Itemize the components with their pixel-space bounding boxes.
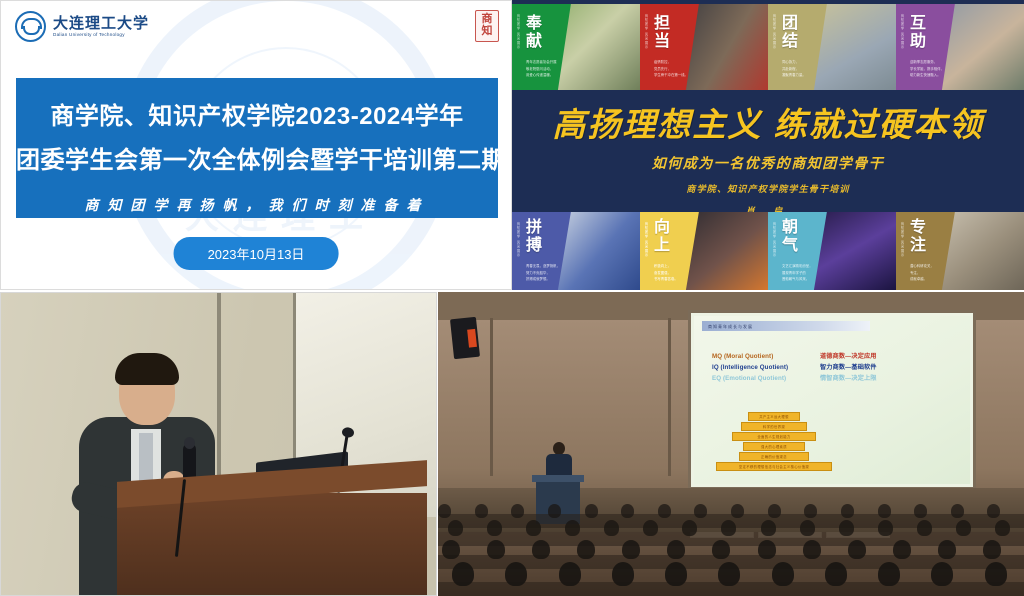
banner-bottom-tile-4: 商知团学 风采展示专 注潜心科研攻关， 专注， 成就卓越。 [896,212,1024,290]
audience-head [987,504,1000,518]
seal-char-bottom: 知 [482,26,493,38]
audience-head [532,540,550,559]
wall-speaker-box-icon [450,317,480,359]
audience-head [839,520,854,536]
audience-head [985,562,1007,586]
audience-head [475,504,488,518]
slide-line-mq-cn: 道德商数—决定应用 [820,353,877,360]
pyramid-row-1: 共产主义远大理想 [748,412,800,421]
audience-head [452,562,474,586]
speaker-hair [115,353,179,385]
slide-line-iq-cn: 智力商数—基础软件 [820,364,877,371]
banner-top-tile-3-word: 团 结 [782,15,827,51]
audience-head [548,504,561,518]
wall-column-mid [668,318,671,476]
projected-slide: 商知青年成长与发展 MQ (Moral Quotient)道德商数—决定应用 I… [694,316,970,484]
banner-top-photo-strip: 商知团学 风采展示奉 献青年志愿者协会开展 敬老院慰问活动， 用爱心传递温暖。商… [512,4,1024,90]
slide-line-mq-en: MQ (Moral Quotient) [712,352,820,363]
audience-head [612,562,634,586]
wall-column-left [490,318,493,476]
pyramid-row-4: 强大的心理素质 [743,442,805,451]
slide-line-eq: EQ (Emotional Quotient)情智商数—决定上限 [712,374,877,385]
banner-bottom-tile-2-word: 向 上 [654,219,699,255]
banner-top-tile-2-vertical-caption: 商知团学 风采展示 [644,14,649,50]
photo-collage: UNIVERSITY OF TE 大连理工 大连理工大学 Dalian Univ… [0,0,1024,596]
banner-top-tile-4-word: 互 助 [910,15,955,51]
audience-head [878,504,891,518]
audience-head [505,562,527,586]
slide-line-mq: MQ (Moral Quotient)道德商数—决定应用 [712,352,877,363]
audience-head [804,504,817,518]
banner-top-tile-4: 商知团学 风采展示互 助迎新季志愿服务， 学长学姐，携手相伴， 助力新生快速融入… [896,4,1024,90]
speaker-photo-panel [0,292,437,596]
banner-top-tile-3: 商知团学 风采展示团 结同心协力， 共赴新程， 凝聚青春力量。 [768,4,896,90]
banner-top-tile-4-vertical-caption: 商知团学 风采展示 [900,14,905,50]
audience-head [721,520,736,536]
wooden-podium [117,493,427,596]
audience-head [604,520,619,536]
banner-bottom-tile-3: 商知团学 风采展示朝 气文艺汇演精彩纷呈， 展现青年学子的 蓬勃朝气与风采。 [768,212,896,290]
university-name-en: Dalian University of Technology [53,33,149,38]
title-tagline: 商知团学再扬帆，我们时刻准备着 [16,195,498,215]
lecture-hall-photo-panel: 商知青年成长与发展 MQ (Moral Quotient)道德商数—决定应用 I… [438,292,1024,596]
banner-bottom-tile-2-vertical-caption: 商知团学 风采展示 [644,222,649,258]
audience-head [951,504,964,518]
audience-head [931,562,953,586]
pyramid-row-2: 科学的世界观 [741,422,807,431]
audience-head [825,562,847,586]
audience-head [487,540,505,559]
university-logo: 大连理工大学 Dalian University of Technology [15,11,149,42]
banner-subheadline: 如何成为一名优秀的商知团学骨干 [652,153,885,173]
audience-head [585,504,598,518]
banner-organizer-line: 商学院、知识产权学院学生骨干培训 [686,182,849,195]
slide-title-bar: 商知青年成长与发展 [702,321,870,331]
university-emblem-icon [15,11,46,42]
banner-top-tile-1-word: 奉 献 [526,15,571,51]
pyramid-row-5: 正确的价值观念 [739,452,809,461]
pyramid-row-3: 全面的人生规划能力 [732,432,816,441]
banner-bottom-tile-1-vertical-caption: 商知团学 风采展示 [516,222,521,258]
title-slide-canvas: UNIVERSITY OF TE 大连理工 大连理工大学 Dalian Univ… [1,1,511,289]
red-seal-stamp-icon: 商 知 [475,10,499,42]
audience-head [956,520,971,536]
audience-head [511,504,524,518]
audience-head [878,520,893,536]
slide-line-iq-en: IQ (Intelligence Quotient) [712,363,820,374]
audience-head [438,504,451,518]
audience-head [526,520,541,536]
banner-bottom-tile-3-vertical-caption: 商知团学 风采展示 [772,222,777,258]
audience-head [848,540,866,559]
audience-head [995,520,1010,536]
audience-head [917,520,932,536]
audience-head [577,540,595,559]
audience-head [565,520,580,536]
slide-line-eq-en: EQ (Emotional Quotient) [712,374,820,385]
audience-head [643,520,658,536]
audience-head [621,504,634,518]
audience-head [803,540,821,559]
audience-head [983,540,1001,559]
banner-bottom-tile-1: 商知团学 风采展示拼 搏青春无畏，逐梦扬帆， 努力不负韶华， 拼搏成就梦想。 [512,212,640,290]
audience-head [768,504,781,518]
audience-head [442,540,460,559]
audience-head [914,504,927,518]
title-slide-panel: UNIVERSITY OF TE 大连理工 大连理工大学 Dalian Univ… [0,0,512,290]
university-logo-text: 大连理工大学 Dalian University of Technology [53,16,149,38]
title-band: 商学院、知识产权学院2023-2024学年 团委学生会第一次全体例会暨学干培训第… [16,78,498,218]
banner-center-text-block: 高扬理想主义 练就过硬本领 如何成为一名优秀的商知团学骨干 商学院、知识产权学院… [512,90,1024,212]
university-name-cn: 大连理工大学 [53,16,149,31]
audience-head [772,562,794,586]
banner-bottom-tile-2: 商知团学 风采展示向 上积极向上， 奋发图强， 书写青春答卷。 [640,212,768,290]
audience-head [731,504,744,518]
audience-head [800,520,815,536]
audience-head [694,504,707,518]
audience-head [559,562,581,586]
audience-head [712,540,730,559]
audience-head [622,540,640,559]
slide-line-eq-cn: 情智商数—决定上限 [820,375,877,382]
slide-title-text: 商知青年成长与发展 [702,321,870,330]
audience-head [448,520,463,536]
audience-head [758,540,776,559]
title-line-2: 团委学生会第一次全体例会暨学干培训第二期 [16,140,498,175]
audience-head [718,562,740,586]
slide-line-iq: IQ (Intelligence Quotient)智力商数—基础软件 [712,363,877,374]
event-date-badge: 2023年10月13日 [174,237,339,270]
banner-top-tile-2-word: 担 当 [654,15,699,51]
audience-head [682,520,697,536]
audience-head [893,540,911,559]
audience-head [938,540,956,559]
audience-head [841,504,854,518]
audience-head [878,562,900,586]
banner-bottom-tile-4-word: 专 注 [910,219,955,255]
banner-top-tile-1-vertical-caption: 商知团学 风采展示 [516,14,521,50]
banner-top-tile-1: 商知团学 风采展示奉 献青年志愿者协会开展 敬老院慰问活动， 用爱心传递温暖。 [512,4,640,90]
slide-quotient-lines: MQ (Moral Quotient)道德商数—决定应用 IQ (Intelli… [712,352,877,385]
audience-head [665,562,687,586]
projector-screen: 商知青年成长与发展 MQ (Moral Quotient)道德商数—决定应用 I… [688,310,976,490]
audience-seating [438,500,1024,596]
banner-bottom-tile-4-vertical-caption: 商知团学 风采展示 [900,222,905,258]
banner-bottom-tile-3-word: 朝 气 [782,219,827,255]
title-line-1: 商学院、知识产权学院2023-2024学年 [16,96,498,131]
audience-head [667,540,685,559]
audience-head [761,520,776,536]
banner-top-tile-2: 商知团学 风采展示担 当疫情防控， 党员先行， 学生骨干冲在第一线。 [640,4,768,90]
pyramid-row-6: 坚定不移的理想信念与社会主义核心价值观 [716,462,832,471]
banner-bottom-photo-strip: 商知团学 风采展示拼 搏青春无畏，逐梦扬帆， 努力不负韶华， 拼搏成就梦想。商知… [512,212,1024,290]
slide-pyramid-diagram: 共产主义远大理想科学的世界观全面的人生规划能力强大的心理素质正确的价值观念坚定不… [716,412,832,472]
banner-bottom-tile-1-word: 拼 搏 [526,219,571,255]
banner-headline: 高扬理想主义 练就过硬本领 [552,98,983,146]
event-banner-panel: 商知团学 风采展示奉 献青年志愿者协会开展 敬老院慰问活动， 用爱心传递温暖。商… [512,0,1024,290]
banner-top-tile-3-vertical-caption: 商知团学 风采展示 [772,14,777,50]
audience-head [487,520,502,536]
audience-head [658,504,671,518]
